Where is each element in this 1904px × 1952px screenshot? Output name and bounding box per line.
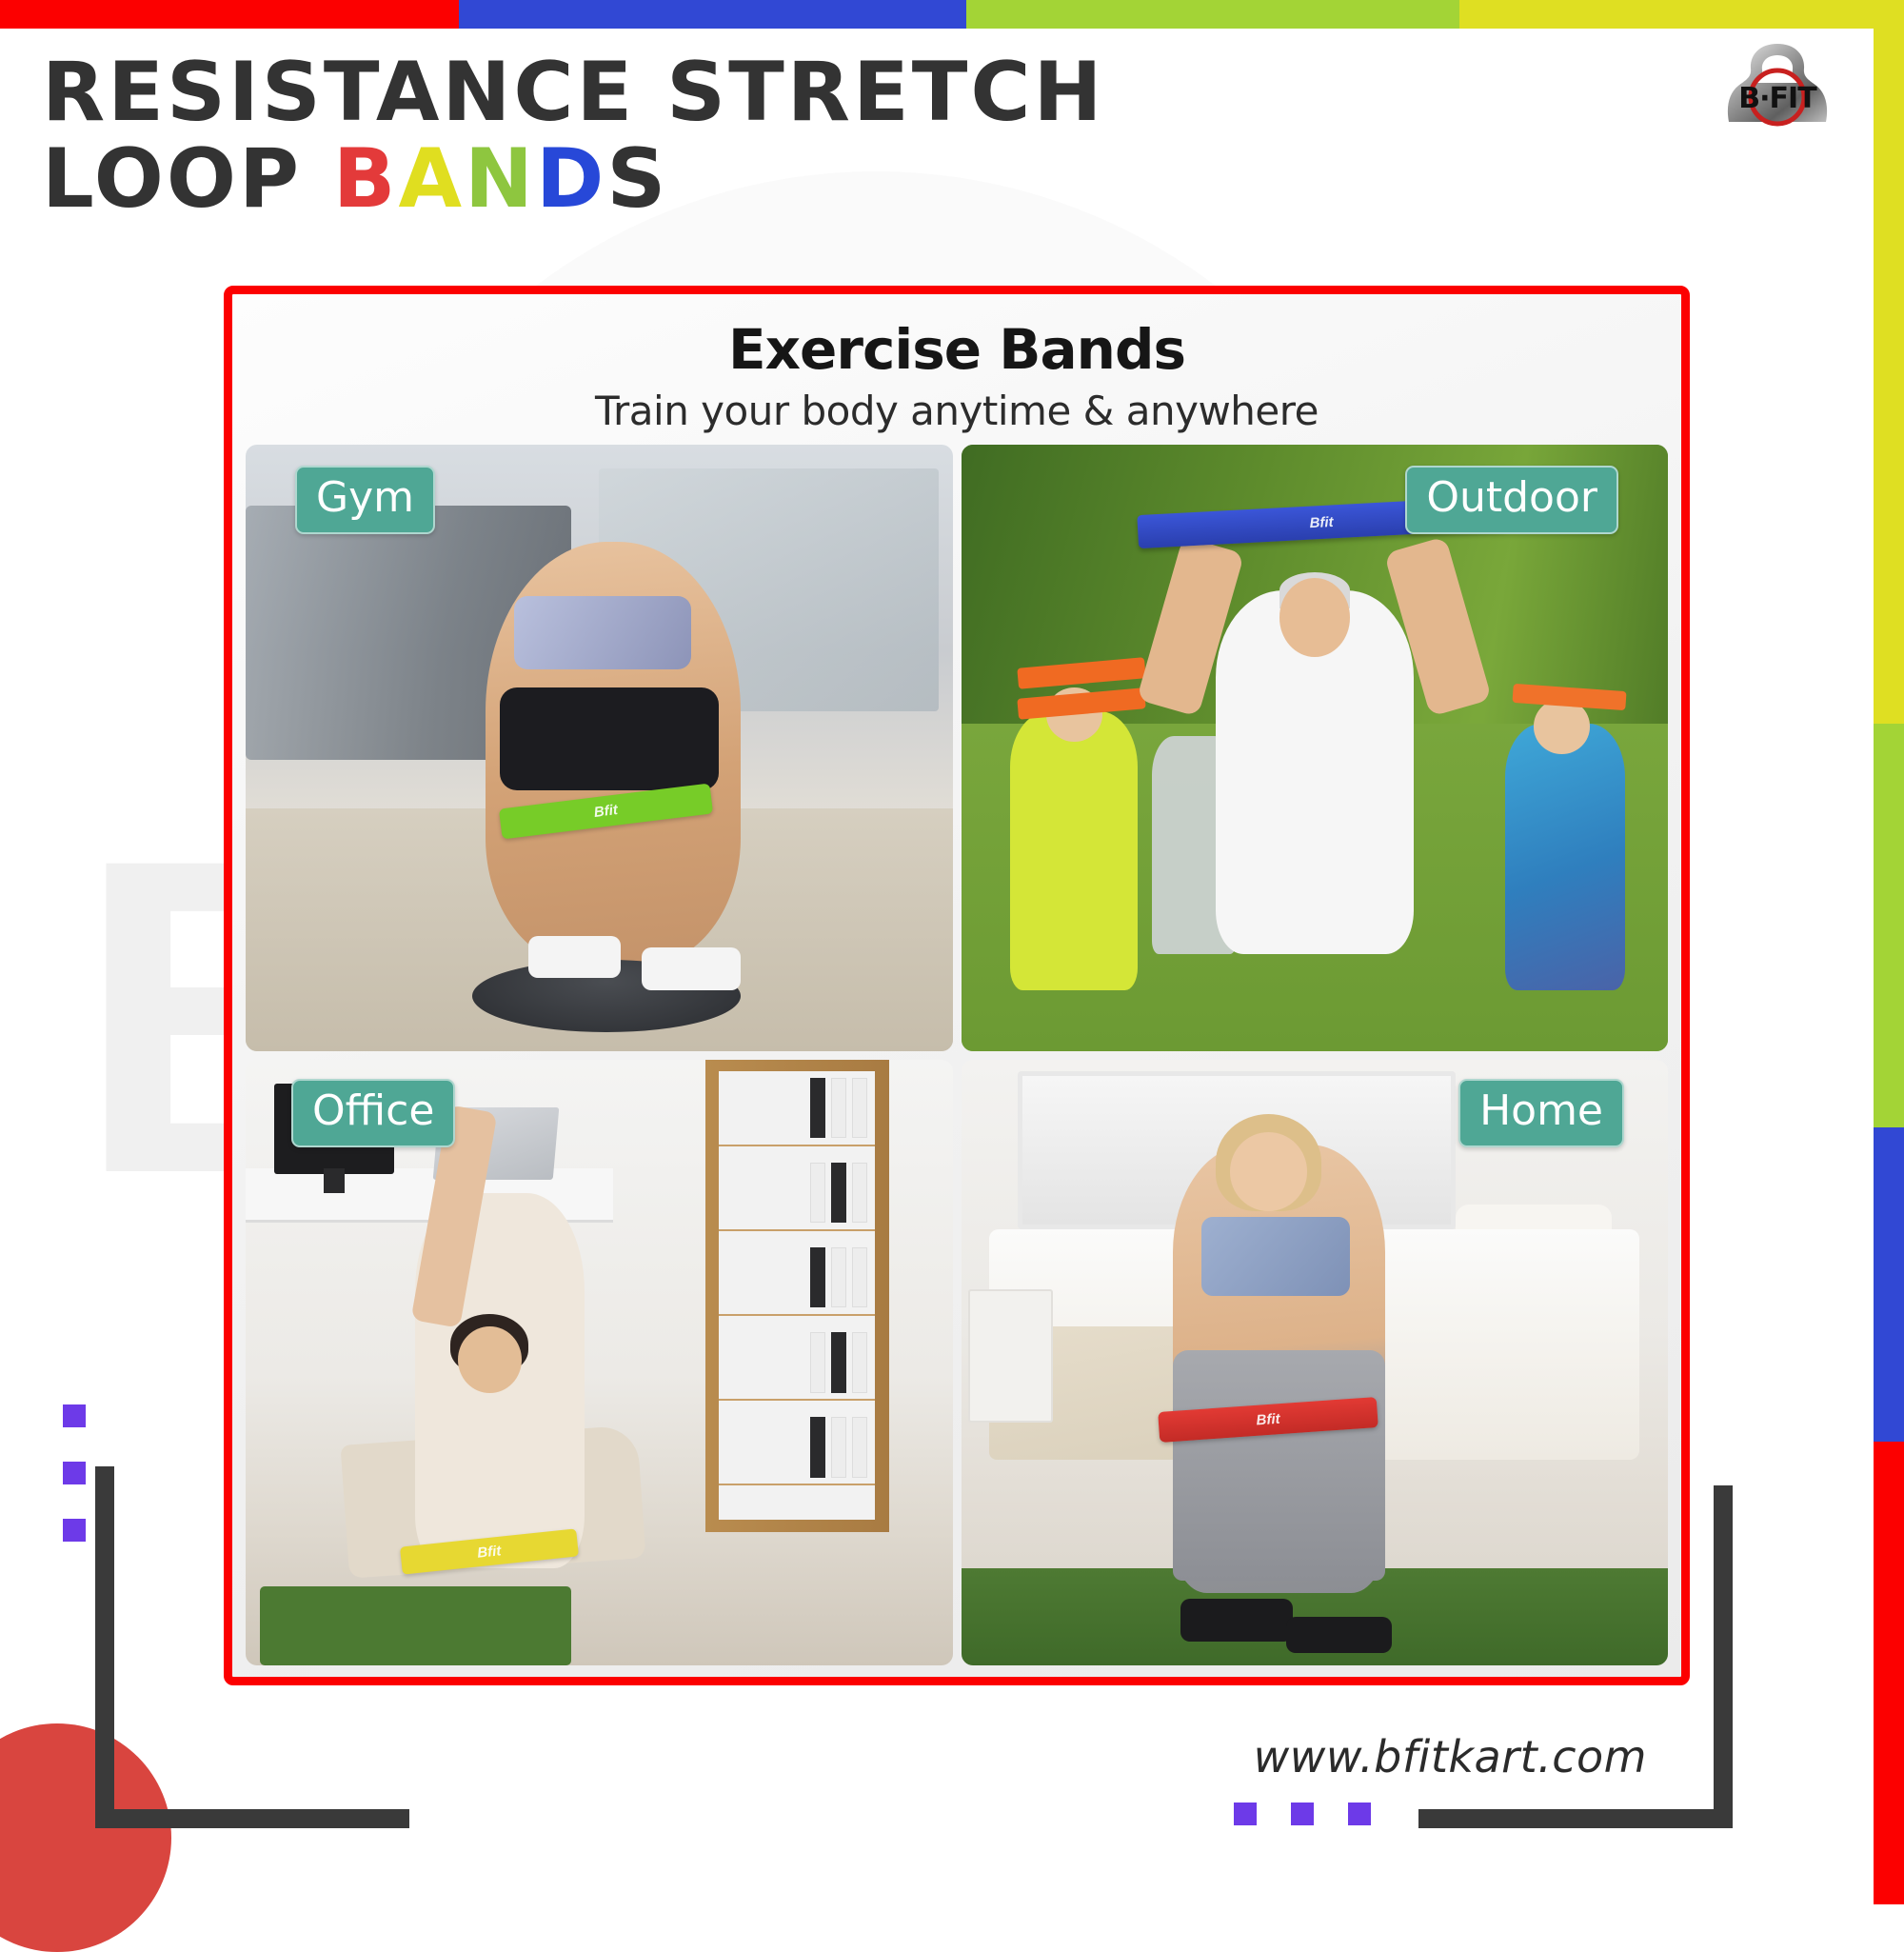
svg-text:B·FIT: B·FIT <box>1738 82 1817 115</box>
office-binder <box>810 1078 825 1139</box>
office-binder <box>831 1078 846 1139</box>
outdoor-woman-yellow <box>1010 711 1138 990</box>
office-binder <box>810 1417 825 1478</box>
photo-grid: Bfit Gym Bfit Outdoor <box>246 445 1668 1665</box>
panel-subtitle: Train your body anytime & anywhere <box>232 388 1681 434</box>
product-panel: Exercise Bands Train your body anytime &… <box>224 286 1690 1685</box>
dot-square <box>1348 1803 1371 1825</box>
dot-square <box>63 1462 86 1484</box>
page-title-line2: LOOP BANDS <box>42 136 1105 223</box>
band-logo-home: Bfit <box>1256 1411 1280 1429</box>
office-binder <box>831 1332 846 1393</box>
gym-person-top <box>514 596 691 668</box>
decorative-dots-vertical <box>63 1404 86 1576</box>
dot-square <box>1234 1803 1257 1825</box>
badge-gym[interactable]: Gym <box>295 466 435 534</box>
decorative-bracket-bottom-left <box>95 1466 409 1828</box>
photo-cell-outdoor[interactable]: Bfit Outdoor <box>962 445 1669 1051</box>
office-binder <box>831 1417 846 1478</box>
right-strip-segment-green <box>1874 724 1904 1127</box>
page-title-line1: RESISTANCE STRETCH <box>42 45 1105 140</box>
office-shelf-row <box>719 1399 874 1401</box>
decorative-dots-horizontal <box>1234 1803 1371 1825</box>
title-letter-b: B <box>333 136 399 223</box>
office-person-head <box>458 1326 522 1393</box>
band-logo-gym: Bfit <box>593 802 619 821</box>
office-binder <box>852 1417 867 1478</box>
office-monitor-stand <box>324 1168 345 1192</box>
office-binder <box>852 1332 867 1393</box>
title-letter-d: D <box>536 136 606 223</box>
badge-office[interactable]: Office <box>291 1079 455 1147</box>
gym-shoe-left <box>528 936 621 979</box>
panel-title: Exercise Bands <box>232 317 1681 382</box>
right-color-strip <box>1874 0 1904 1904</box>
dot-square <box>1291 1803 1314 1825</box>
brand-logo: B·FIT <box>1721 38 1834 145</box>
home-person-head <box>1230 1132 1308 1211</box>
top-color-strip <box>0 0 1904 29</box>
gym-shoe-right <box>642 947 741 990</box>
home-person-legs <box>1173 1350 1385 1581</box>
top-strip-segment-green <box>966 0 1459 29</box>
right-strip-segment-red <box>1874 1442 1904 1904</box>
badge-outdoor[interactable]: Outdoor <box>1405 466 1618 534</box>
dot-square <box>63 1404 86 1427</box>
office-binder <box>810 1332 825 1393</box>
right-strip-segment-yellow <box>1874 0 1904 724</box>
page-title: RESISTANCE STRETCH LOOP BANDS <box>42 50 1105 223</box>
office-shelf-row <box>719 1484 874 1485</box>
photo-cell-gym[interactable]: Bfit Gym <box>246 445 953 1051</box>
kettlebell-icon: B·FIT <box>1721 38 1834 145</box>
band-logo-office: Bfit <box>477 1543 503 1562</box>
top-strip-segment-yellow <box>1459 0 1904 29</box>
outdoor-man-head <box>1279 578 1350 657</box>
home-nightstand <box>968 1289 1053 1423</box>
badge-home[interactable]: Home <box>1458 1079 1624 1147</box>
title-letter-s: S <box>606 136 668 223</box>
home-shoe-right <box>1286 1617 1392 1653</box>
band-logo-outdoor: Bfit <box>1309 513 1334 530</box>
top-strip-segment-red <box>0 0 459 29</box>
gym-person-shorts <box>500 687 719 790</box>
office-shelf-row <box>719 1145 874 1146</box>
home-shoe-left <box>1180 1599 1294 1642</box>
office-binder <box>852 1163 867 1224</box>
office-binder <box>831 1247 846 1308</box>
right-strip-segment-blue <box>1874 1127 1904 1442</box>
title-letter-a: A <box>398 136 465 223</box>
dot-square <box>63 1519 86 1542</box>
title-letter-n: N <box>465 136 536 223</box>
office-binder <box>831 1163 846 1224</box>
website-url[interactable]: www.bfitkart.com <box>1254 1731 1647 1783</box>
outdoor-woman-blue <box>1505 724 1625 990</box>
office-shelf-row <box>719 1229 874 1231</box>
top-strip-segment-blue <box>459 0 966 29</box>
office-binder <box>852 1078 867 1139</box>
office-binder <box>810 1247 825 1308</box>
page-title-line2-prefix: LOOP <box>42 131 333 227</box>
office-binder <box>810 1163 825 1224</box>
office-binder <box>852 1247 867 1308</box>
home-person-top <box>1201 1217 1350 1296</box>
office-shelf-row <box>719 1314 874 1316</box>
